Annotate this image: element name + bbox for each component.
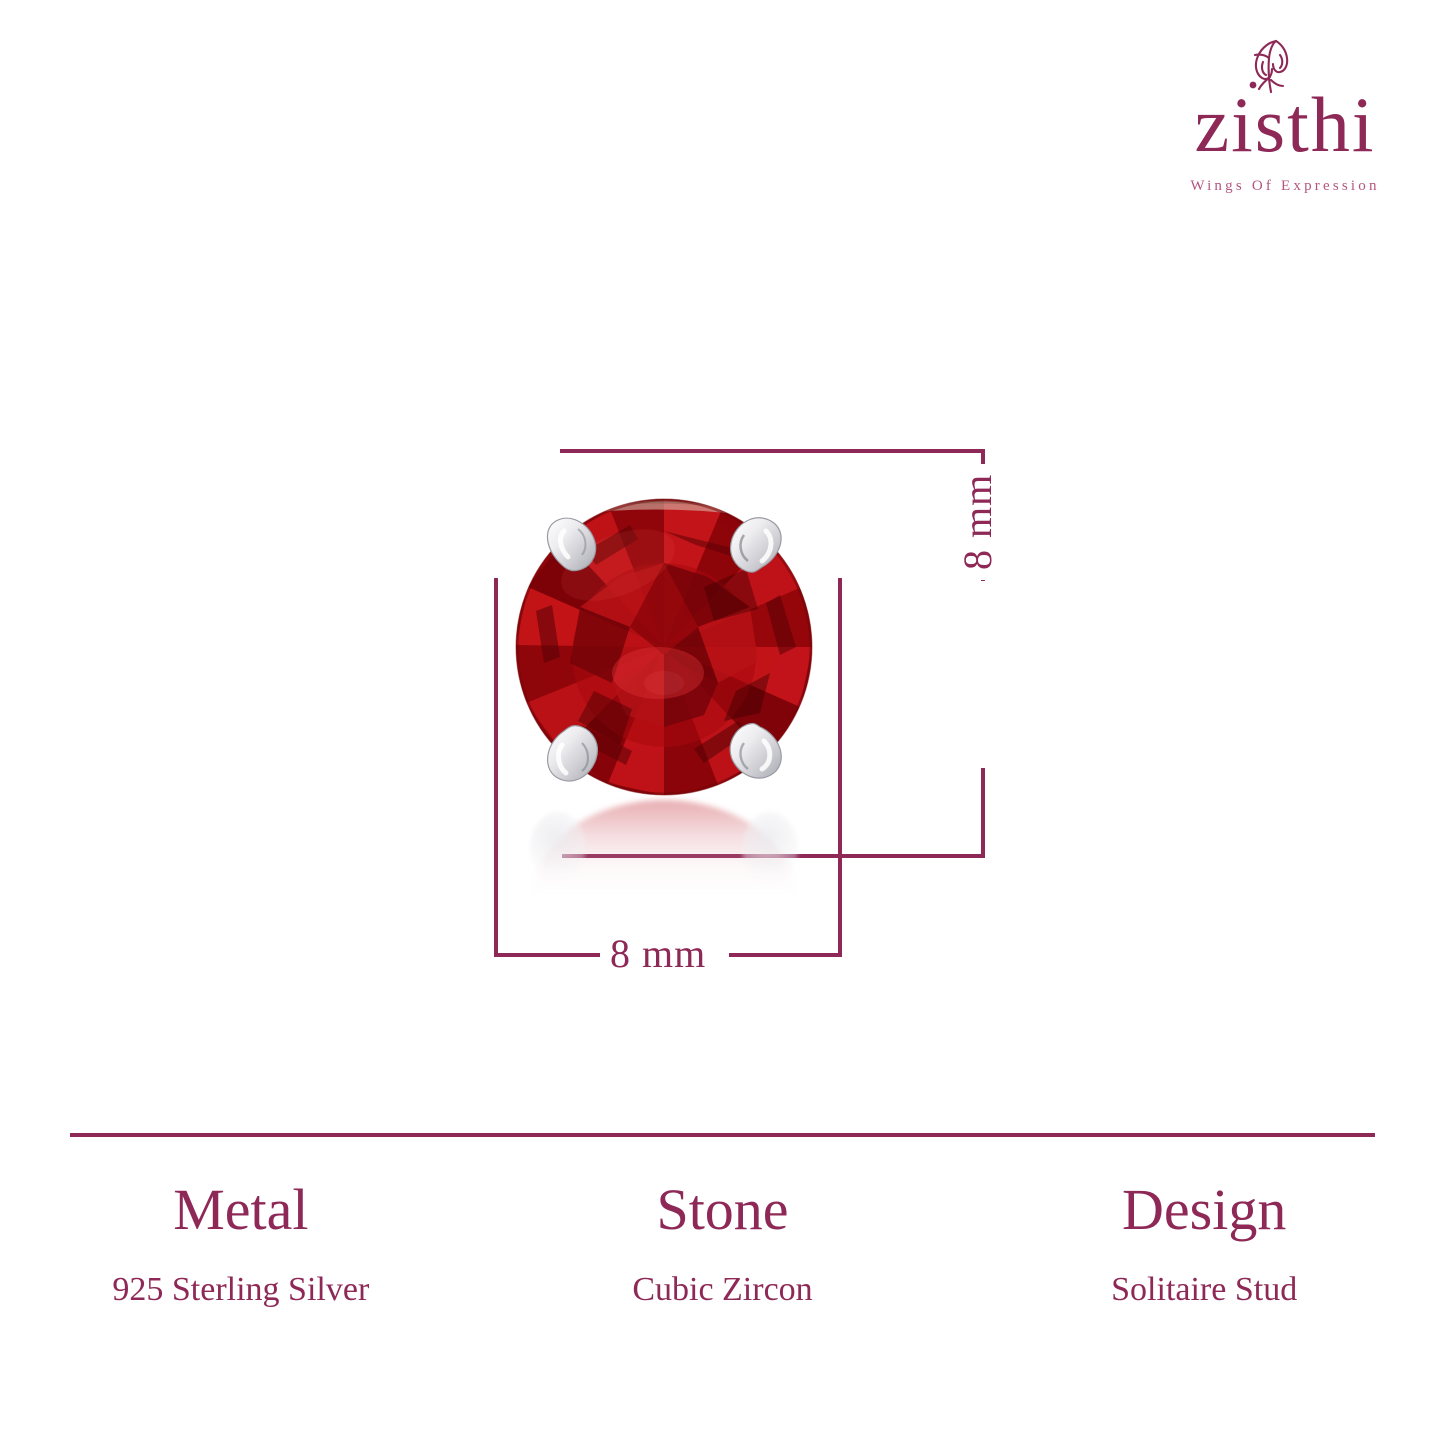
- spec-row: Metal 925 Sterling Silver Stone Cubic Zi…: [0, 1180, 1445, 1309]
- dimension-line-bottom-left: [494, 953, 606, 957]
- prong-reflection-left: [530, 812, 586, 882]
- dimension-line-bottom-right: [729, 953, 842, 957]
- spec-title-metal: Metal: [0, 1180, 482, 1241]
- dimension-line-inner-right: [838, 578, 842, 957]
- prong-reflection-right: [742, 812, 798, 884]
- spec-value-metal: 925 Sterling Silver: [0, 1271, 482, 1309]
- spec-column-stone: Stone Cubic Zircon: [482, 1180, 964, 1309]
- dimension-line-top: [560, 449, 985, 453]
- spec-value-stone: Cubic Zircon: [482, 1271, 964, 1309]
- spec-column-design: Design Solitaire Stud: [963, 1180, 1445, 1309]
- spec-title-design: Design: [963, 1180, 1445, 1241]
- spec-title-stone: Stone: [482, 1180, 964, 1241]
- spec-divider: [70, 1133, 1375, 1137]
- gemstone-image: [508, 495, 820, 807]
- product-diagram: 8 mm 8 mm: [0, 0, 1445, 1100]
- dimension-line-left: [494, 578, 498, 957]
- dimension-label-height: 8 mm: [958, 464, 998, 580]
- dimension-line-right-lower: [981, 768, 985, 858]
- spec-column-metal: Metal 925 Sterling Silver: [0, 1180, 482, 1309]
- spec-value-design: Solitaire Stud: [963, 1271, 1445, 1309]
- dimension-label-width: 8 mm: [600, 934, 716, 974]
